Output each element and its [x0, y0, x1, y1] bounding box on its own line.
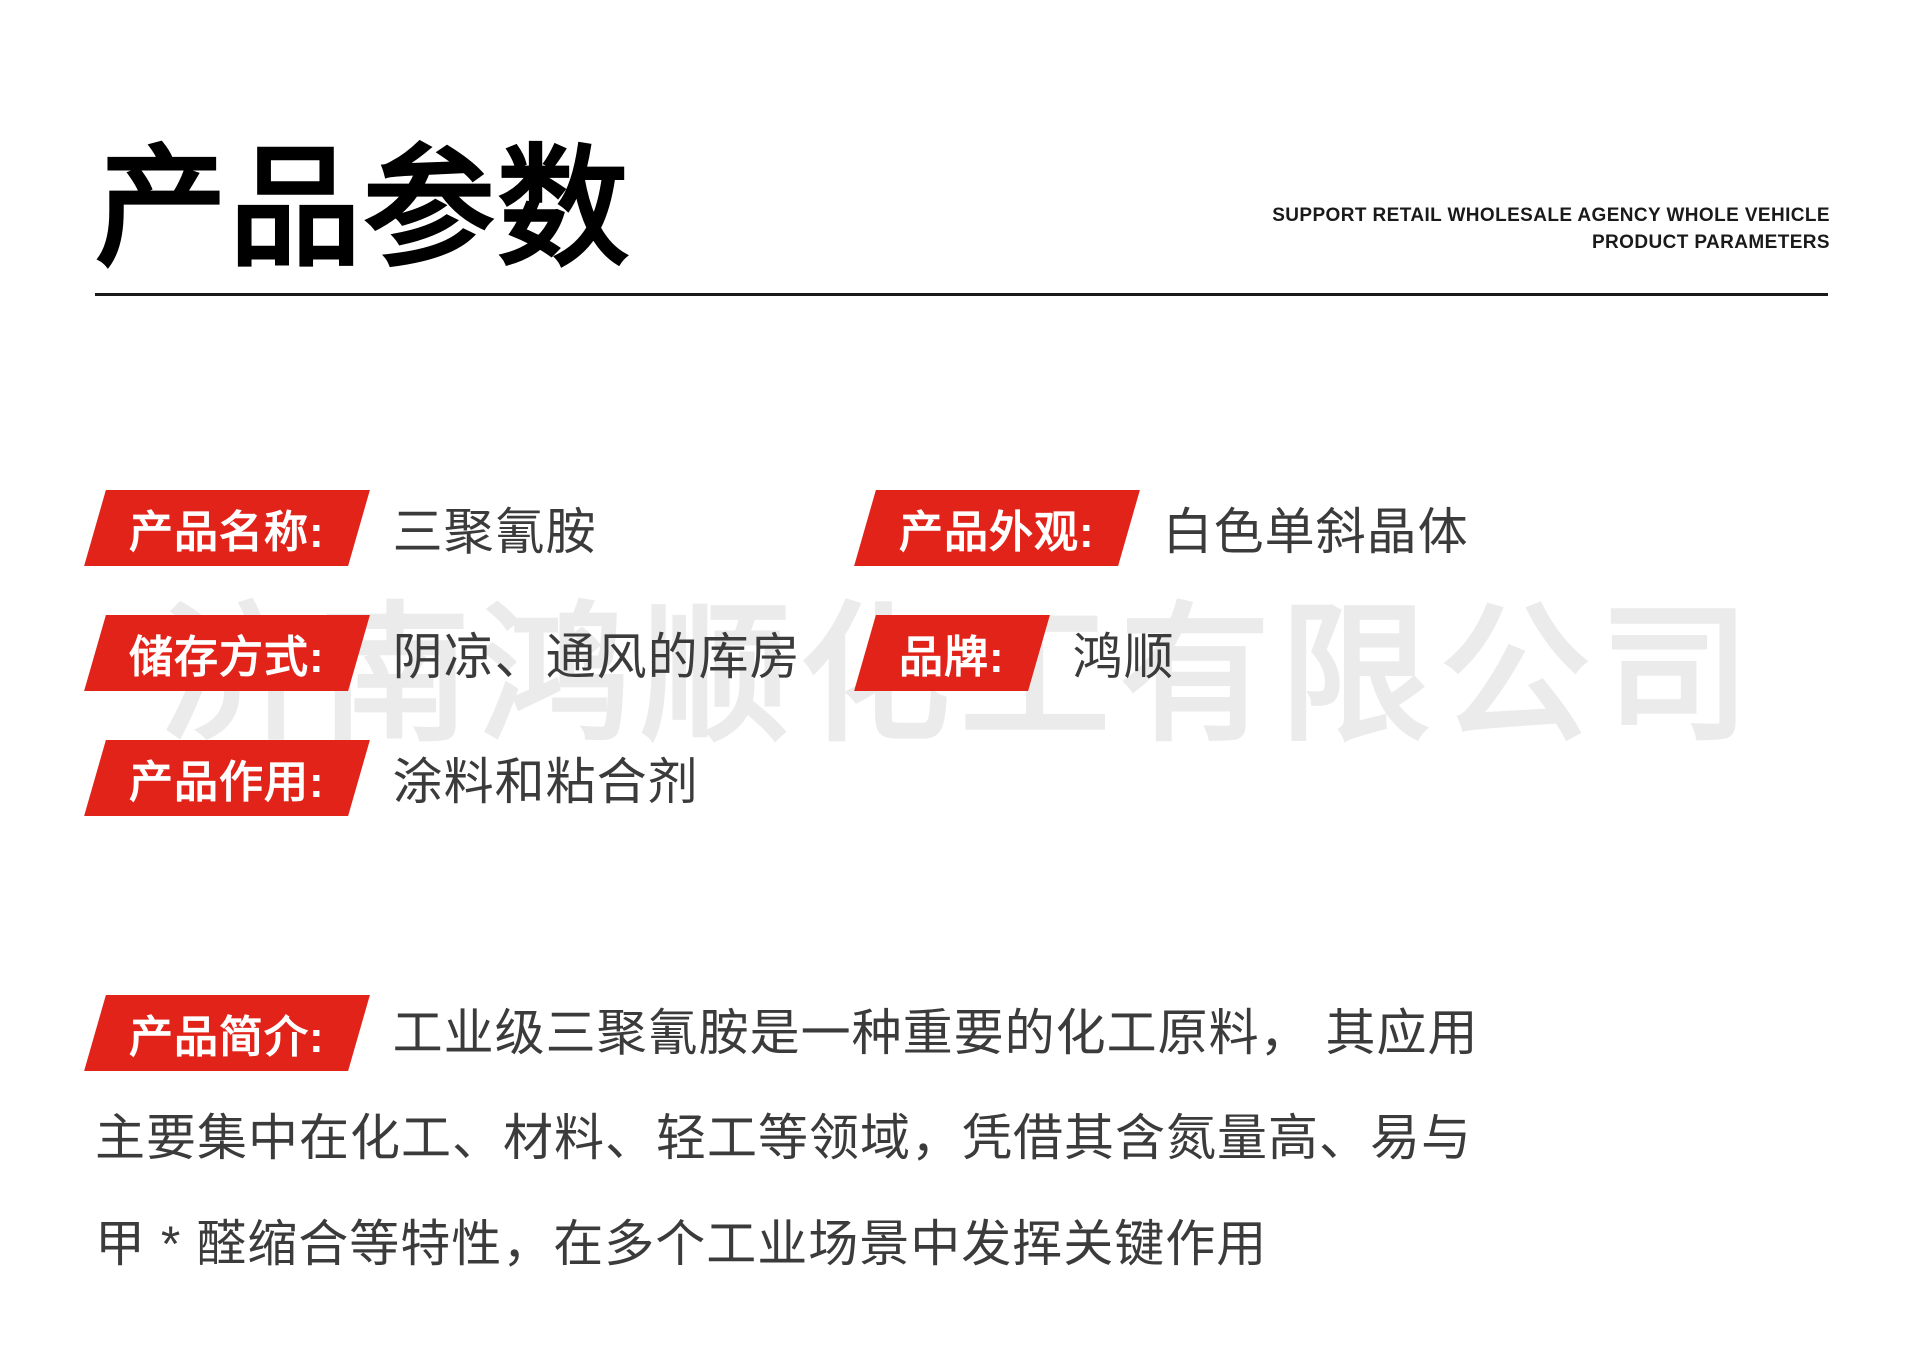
spec-cell-storage-method: 储存方式: 阴凉、通风的库房 — [95, 615, 865, 691]
spec-value: 阴凉、通风的库房 — [393, 617, 801, 689]
description-body: 主要集中在化工、材料、轻工等领域，凭借其含氮量高、易与 甲 * 醛缩合等特性，在… — [95, 1085, 1840, 1297]
spec-label-tag: 储存方式: — [84, 615, 369, 691]
spec-label-text: 产品外观: — [899, 496, 1095, 560]
page-header: 产品参数 SUPPORT RETAIL WHOLESALE AGENCY WHO… — [95, 100, 1830, 296]
description-line-3: 甲 * 醛缩合等特性，在多个工业场景中发挥关键作用 — [95, 1191, 1840, 1297]
spec-cell-brand: 品牌: 鸿顺 — [865, 615, 1835, 691]
page-title: 产品参数 — [95, 143, 631, 275]
header-subtitle: SUPPORT RETAIL WHOLESALE AGENCY WHOLE VE… — [1272, 202, 1830, 275]
spec-value: 白色单斜晶体 — [1163, 492, 1469, 564]
spec-label-text: 产品作用: — [129, 746, 325, 810]
spec-label-text: 品牌: — [899, 621, 1005, 685]
spec-list: 产品名称: 三聚氰胺 产品外观: 白色单斜晶体 储存方式: 阴凉、通风的库房 — [95, 465, 1835, 840]
spec-label-text: 储存方式: — [129, 621, 325, 685]
spec-label-tag: 产品外观: — [854, 490, 1139, 566]
spec-value: 涂料和粘合剂 — [393, 742, 699, 814]
spec-row: 储存方式: 阴凉、通风的库房 品牌: 鸿顺 — [95, 590, 1835, 715]
spec-value: 三聚氰胺 — [393, 492, 597, 564]
spec-cell-product-function: 产品作用: 涂料和粘合剂 — [95, 740, 865, 816]
spec-row: 产品作用: 涂料和粘合剂 — [95, 715, 1835, 840]
description-first-line: 产品简介: 工业级三聚氰胺是一种重要的化工原料， 其应用 — [95, 985, 1840, 1081]
spec-label-tag: 产品名称: — [84, 490, 369, 566]
spec-cell-product-name: 产品名称: 三聚氰胺 — [95, 490, 865, 566]
spec-label-tag: 产品作用: — [84, 740, 369, 816]
header-row: 产品参数 SUPPORT RETAIL WHOLESALE AGENCY WHO… — [95, 100, 1830, 275]
product-parameters-page: 济南鸿顺化工有限公司 产品参数 SUPPORT RETAIL WHOLESALE… — [0, 0, 1920, 1372]
subtitle-line-1: SUPPORT RETAIL WHOLESALE AGENCY WHOLE VE… — [1272, 202, 1830, 230]
subtitle-line-2: PRODUCT PARAMETERS — [1272, 229, 1830, 257]
header-divider — [95, 293, 1828, 296]
product-description: 产品简介: 工业级三聚氰胺是一种重要的化工原料， 其应用 主要集中在化工、材料、… — [95, 985, 1840, 1297]
description-line-1: 工业级三聚氰胺是一种重要的化工原料， 其应用 — [393, 980, 1479, 1086]
spec-label-tag: 品牌: — [854, 615, 1049, 691]
description-label-tag: 产品简介: — [84, 995, 369, 1071]
spec-row: 产品名称: 三聚氰胺 产品外观: 白色单斜晶体 — [95, 465, 1835, 590]
spec-cell-product-appearance: 产品外观: 白色单斜晶体 — [865, 490, 1835, 566]
description-label-text: 产品简介: — [129, 1001, 325, 1065]
spec-label-text: 产品名称: — [129, 496, 325, 560]
spec-value: 鸿顺 — [1073, 617, 1175, 689]
description-line-2: 主要集中在化工、材料、轻工等领域，凭借其含氮量高、易与 — [95, 1085, 1840, 1191]
